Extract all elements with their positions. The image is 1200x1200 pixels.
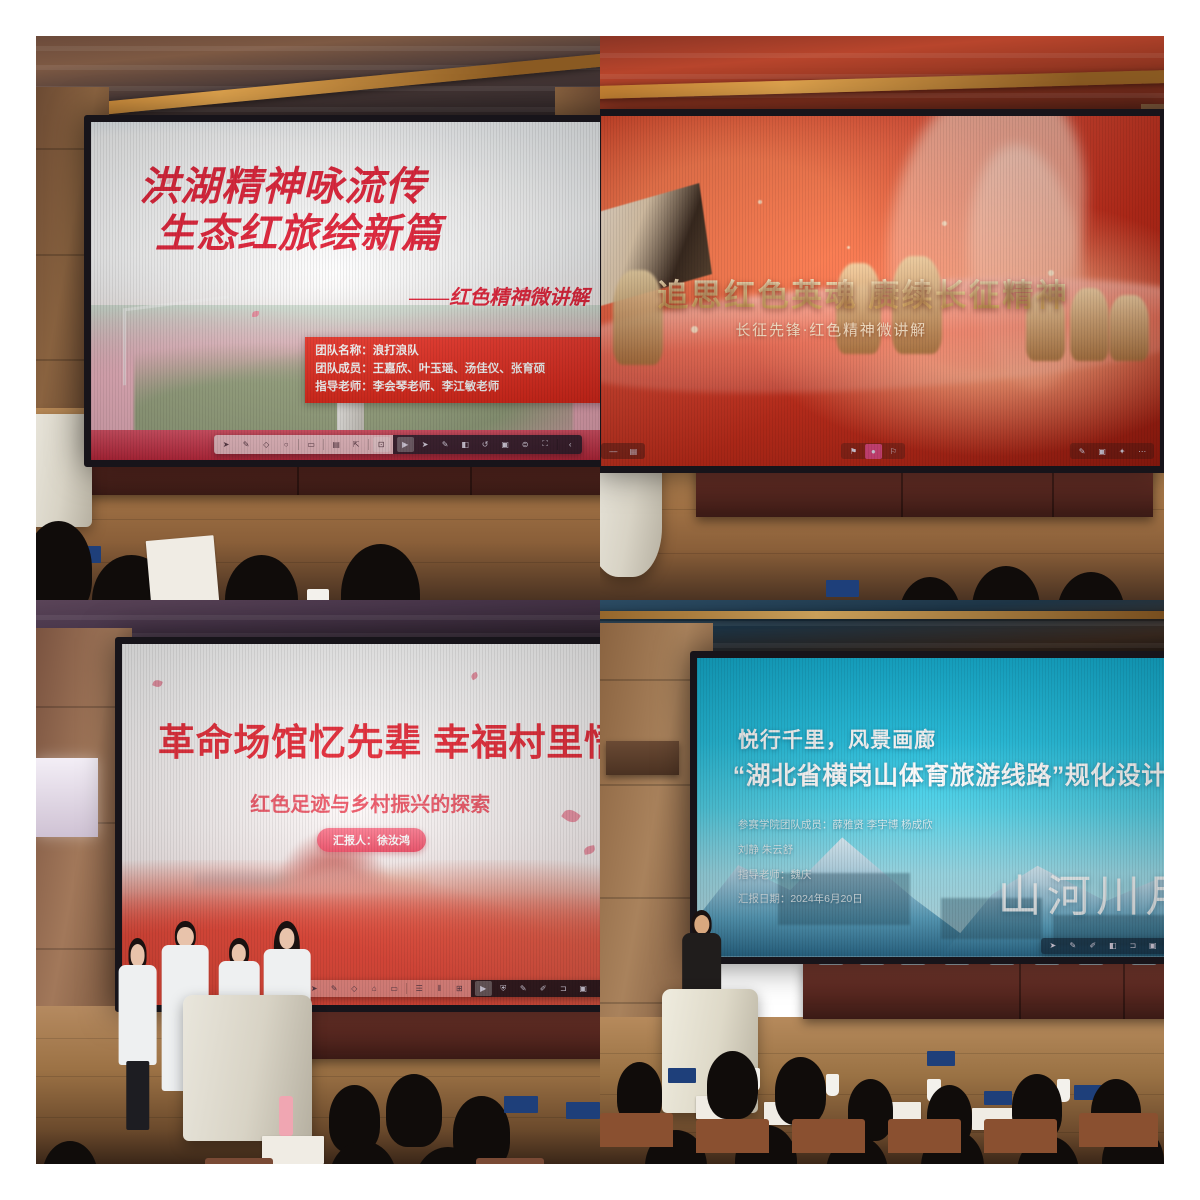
list-icon[interactable]: ☰ — [411, 981, 428, 996]
ceiling-beam — [600, 611, 1164, 619]
slide-title-line-2: “湖北省横岗山体育旅游线路”规化设计汇报 — [733, 756, 1164, 792]
media-controls[interactable]: ⚑ ● ⚐ — [841, 443, 905, 459]
shape-icon[interactable]: ○ — [278, 437, 295, 452]
seat-back — [792, 1119, 865, 1153]
seat-back — [696, 1119, 769, 1153]
annotation-toolbar-left[interactable]: — ▤ — [601, 443, 645, 459]
table-icon[interactable]: ⊞ — [451, 981, 468, 996]
pen-icon[interactable]: ✎ — [326, 981, 343, 996]
figure-silhouette — [613, 270, 663, 364]
settings-icon[interactable]: ⊜ — [517, 437, 534, 452]
more-icon[interactable]: ⋯ — [1134, 444, 1151, 459]
led-screen[interactable]: 悦行千里，风景画廊 “湖北省横岗山体育旅游线路”规化设计汇报 参赛学院团队成员：… — [690, 651, 1164, 964]
annotation-toolbar[interactable]: ➤ ✎ ◇ ⌂ ▭ ☰ ⫴ ⊞ ▶ ⛨ ✎ ✐ — [302, 980, 600, 997]
toolbar-left-group[interactable]: — ▤ — [601, 443, 645, 459]
toolbar-group[interactable]: ➤ ✎ ✐ ◧ ⊐ ▣ ⬓ ▢ — [1041, 938, 1164, 954]
play-icon[interactable]: ▶ — [475, 981, 492, 996]
toolbar-right-group[interactable]: ▶ ➤ ✎ ◧ ↺ ▣ ⊜ ⛶ ‹ — [393, 435, 582, 454]
team-info-box: 团队名称：浪打浪队 团队成员：王嘉欣、叶玉瑶、汤佳仪、张育硕 指导老师：李会琴老… — [305, 337, 600, 402]
note-icon[interactable]: ▣ — [1144, 938, 1161, 953]
slide-title-line-1: 洪湖精神咏流传 — [139, 163, 594, 210]
grid-icon[interactable]: ▤ — [328, 437, 345, 452]
cursor-icon[interactable]: ➤ — [218, 437, 235, 452]
conference-desk-row — [262, 1006, 600, 1059]
panel-bottom-right: 悦行千里，风景画廊 “湖北省横岗山体育旅游线路”规化设计汇报 参赛学院团队成员：… — [600, 600, 1164, 1164]
meta-advisor-line: 指导老师：魏庆 — [738, 863, 933, 888]
panel-top-right: 追思红色英魂 赓续长征精神 长征先锋·红色精神微讲解 — ▤ ⚑ ● ⚐ — [600, 36, 1164, 600]
eraser-icon[interactable]: ◧ — [1104, 938, 1121, 953]
pen-icon[interactable]: ✎ — [1074, 444, 1091, 459]
cursor-icon[interactable]: ➤ — [1044, 938, 1061, 953]
nameplate — [668, 1068, 696, 1083]
pen-icon[interactable]: ✎ — [515, 981, 532, 996]
rect-icon[interactable]: ▭ — [386, 981, 403, 996]
meta-members-line: 刘静 朱云舒 — [738, 838, 933, 863]
toolbar-left-group[interactable]: ➤ ✎ ◇ ⌂ ▭ ☰ ⫴ ⊞ — [302, 980, 471, 997]
seat-back — [600, 1113, 673, 1147]
presenter-badge: 汇报人：徐汝鸿 — [317, 828, 426, 852]
photo-collage: 洪湖精神咏流传 生态红旅绘新篇 ——红色精神微讲解 团队名称：浪打浪队 团队成员… — [36, 36, 1164, 1164]
audience-head — [386, 1074, 442, 1147]
frame-icon[interactable]: ⌂ — [366, 981, 383, 996]
led-screen[interactable]: 追思红色英魂 赓续长征精神 长征先锋·红色精神微讲解 — ▤ ⚑ ● ⚐ — [600, 109, 1164, 473]
team-name-line: 团队名称：浪打浪队 — [315, 343, 600, 361]
nameplate — [504, 1096, 538, 1113]
annotation-toolbar[interactable]: ➤ ✎ ◇ ○ ▭ ▤ ⇱ ⊡ ▶ ➤ — [214, 435, 582, 454]
flag-icon[interactable]: ⚑ — [845, 444, 862, 459]
slide-title-line-1: 悦行千里，风景画廊 — [738, 724, 936, 754]
export-icon[interactable]: ⇱ — [348, 437, 365, 452]
annotation-toolbar[interactable]: ➤ ✎ ✐ ◧ ⊐ ▣ ⬓ ▢ — [1041, 938, 1164, 954]
presenter — [115, 938, 160, 1130]
meta-date-line: 汇报日期：2024年6月20日 — [738, 887, 933, 912]
pen-icon[interactable]: ✎ — [1064, 938, 1081, 953]
water-bottle — [279, 1096, 294, 1135]
seat-back — [476, 1158, 544, 1164]
board-icon[interactable]: ▣ — [1094, 444, 1111, 459]
back-icon[interactable]: ‹ — [562, 437, 579, 452]
insert-icon[interactable]: ▣ — [497, 437, 514, 452]
panel-top-left: 洪湖精神咏流传 生态红旅绘新篇 ——红色精神微讲解 团队名称：浪打浪队 团队成员… — [36, 36, 600, 600]
note-icon[interactable]: ▤ — [625, 444, 642, 459]
slide-subtitle: 长征先锋·红色精神微讲解 — [735, 319, 927, 340]
shape-icon[interactable]: ⊐ — [1124, 938, 1141, 953]
panel-bottom-left: 革命场馆忆先辈 幸福村里悟幸福 红色足迹与乡村振兴的探索 汇报人：徐汝鸿 ➤ ✎… — [36, 600, 600, 1164]
nameplate — [927, 1051, 955, 1066]
slide-content: 洪湖精神咏流传 生态红旅绘新篇 ——红色精神微讲解 团队名称：浪打浪队 团队成员… — [91, 122, 600, 460]
fullscreen-icon[interactable]: ⛶ — [537, 437, 554, 452]
flag-icon[interactable]: ⚐ — [885, 444, 902, 459]
nameplate — [566, 1102, 600, 1119]
undo-icon[interactable]: ↺ — [477, 437, 494, 452]
highlighter-icon[interactable]: ✐ — [535, 981, 552, 996]
advisors-line: 指导老师：李会琴老师、李江敏老师 — [315, 379, 600, 397]
slide-title: 追思红色英魂 赓续长征精神 — [657, 270, 1137, 315]
shape-icon[interactable]: ⊐ — [555, 981, 572, 996]
seat-back — [984, 1119, 1057, 1153]
paper-cup — [307, 589, 330, 600]
highlighter-icon[interactable]: ✐ — [1084, 938, 1101, 953]
wand-icon[interactable]: ✦ — [1114, 444, 1131, 459]
media-controls-group[interactable]: ⚑ ● ⚐ — [841, 443, 905, 459]
slide-title: 革命场馆忆先辈 幸福村里悟幸福 — [158, 712, 600, 766]
handout-paper — [145, 535, 219, 600]
slide-title-line-2: 生态红旅绘新篇 — [155, 210, 594, 257]
toolbar-right-group[interactable]: ▶ ⛨ ✎ ✐ ⊐ ▣ ▤ ▢ — [471, 980, 600, 997]
slide-meta: 参赛学院团队成员：薛雅贤 李宇博 杨成欣 刘静 朱云舒 指导老师：魏庆 汇报日期… — [738, 813, 933, 912]
slide-subtitle: 红色足迹与乡村振兴的探索 — [250, 788, 490, 817]
conference-desk-row — [803, 961, 1164, 1019]
nameplate — [826, 580, 860, 597]
paper-cup — [826, 1074, 840, 1097]
shield-icon[interactable]: ⛨ — [495, 981, 512, 996]
slide-title: 洪湖精神咏流传 生态红旅绘新篇 — [139, 163, 594, 257]
screen-icon[interactable]: ▭ — [303, 437, 320, 452]
minimize-icon[interactable]: — — [605, 444, 622, 459]
capture-icon[interactable]: ⊡ — [373, 437, 390, 452]
annotation-toolbar-right[interactable]: ✎ ▣ ✦ ⋯ — [1070, 443, 1154, 459]
record-icon[interactable]: ● — [865, 444, 882, 459]
nameplate — [984, 1091, 1012, 1106]
team-members-line: 团队成员：王嘉欣、叶玉瑶、汤佳仪、张育硕 — [315, 361, 600, 379]
meta-team-line: 参赛学院团队成员：薛雅贤 李宇博 杨成欣 — [738, 813, 933, 838]
slide-content: 追思红色英魂 赓续长征精神 长征先锋·红色精神微讲解 — ▤ ⚑ ● ⚐ — [601, 116, 1159, 466]
toolbar-right-group[interactable]: ✎ ▣ ✦ ⋯ — [1070, 443, 1154, 459]
seat-back — [1079, 1113, 1158, 1147]
highlighter-icon[interactable]: ◇ — [258, 437, 275, 452]
note-icon[interactable]: ▣ — [575, 981, 592, 996]
pen-icon[interactable]: ✎ — [437, 437, 454, 452]
slide-subtitle: ——红色精神微讲解 — [409, 281, 589, 310]
play-icon[interactable]: ▶ — [397, 437, 414, 452]
wall-shelf — [606, 741, 679, 775]
pen-icon[interactable]: ✎ — [238, 437, 255, 452]
led-screen[interactable]: 洪湖精神咏流传 生态红旅绘新篇 ——红色精神微讲解 团队名称：浪打浪队 团队成员… — [84, 115, 600, 467]
seat-back — [205, 1158, 273, 1164]
seat-back — [888, 1119, 961, 1153]
wall-light-panel — [36, 758, 98, 837]
eraser-icon[interactable]: ◧ — [457, 437, 474, 452]
toolbar-left-group[interactable]: ➤ ✎ ◇ ○ ▭ ▤ ⇱ ⊡ — [214, 435, 393, 454]
select-icon[interactable]: ➤ — [417, 437, 434, 452]
columns-icon[interactable]: ⫴ — [431, 981, 448, 996]
shape-icon[interactable]: ◇ — [346, 981, 363, 996]
audience-head — [775, 1057, 826, 1125]
calligraphy-watermark: 山河川月 — [998, 860, 1164, 924]
audience-head — [707, 1051, 758, 1119]
slide-content: 悦行千里，风景画廊 “湖北省横岗山体育旅游线路”规化设计汇报 参赛学院团队成员：… — [697, 658, 1164, 957]
